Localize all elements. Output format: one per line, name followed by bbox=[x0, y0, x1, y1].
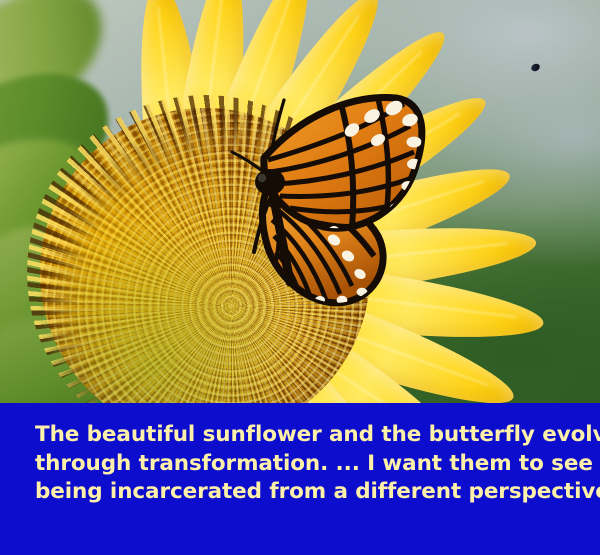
caption-line: through transformation. ... I want them … bbox=[35, 450, 575, 479]
caption-line: being incarcerated from a different pers… bbox=[35, 478, 575, 507]
caption-text: The beautiful sunflower and the butterfl… bbox=[35, 421, 575, 507]
poster-card: The beautiful sunflower and the butterfl… bbox=[0, 0, 600, 555]
sunflower-butterfly-photo bbox=[0, 0, 600, 403]
caption-band: The beautiful sunflower and the butterfl… bbox=[0, 403, 600, 555]
caption-line: The beautiful sunflower and the butterfl… bbox=[35, 421, 575, 450]
butterfly-illustration bbox=[228, 86, 448, 316]
